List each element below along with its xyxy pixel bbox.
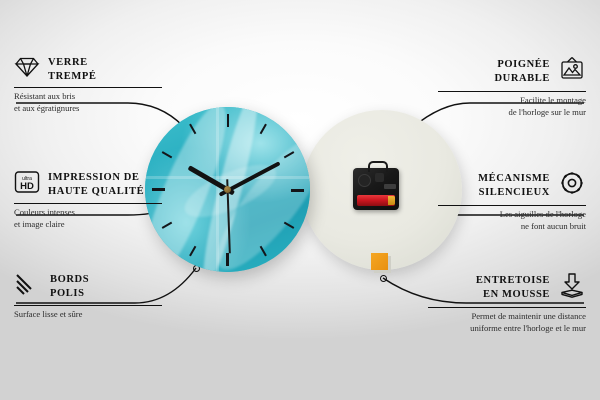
polished-edges-icon bbox=[14, 272, 42, 301]
feature-title: IMPRESSION DEHAUTE QUALITÉ bbox=[48, 171, 144, 198]
feature-poignee-durable: POIGNÉEDURABLE Facilite le montagede l'h… bbox=[438, 56, 586, 118]
svg-text:HD: HD bbox=[20, 181, 34, 192]
hour-tick bbox=[152, 189, 228, 191]
divider bbox=[428, 307, 586, 308]
mechanism-dial bbox=[358, 174, 371, 187]
ultra-hd-icon: ultra HD bbox=[14, 170, 40, 199]
feature-description: Couleurs intenseset image claire bbox=[14, 207, 162, 230]
mechanism-label bbox=[384, 184, 396, 189]
feature-description: Surface lisse et sûre bbox=[14, 309, 162, 321]
foam-spacer bbox=[371, 253, 388, 270]
feature-bords-polis: BORDSPOLIS Surface lisse et sûre bbox=[14, 272, 162, 321]
gear-icon bbox=[558, 170, 586, 201]
picture-frame-hook-icon bbox=[558, 56, 586, 87]
feature-impression-haute-qualite: ultra HD IMPRESSION DEHAUTE QUALITÉ Coul… bbox=[14, 170, 162, 230]
feature-title: POIGNÉEDURABLE bbox=[494, 58, 550, 85]
feature-description: Permet de maintenir une distanceuniforme… bbox=[428, 311, 586, 334]
feature-entretoise-en-mousse: ENTRETOISEEN MOUSSE Permet de maintenir … bbox=[428, 272, 586, 334]
divider bbox=[14, 203, 162, 204]
feature-description: Facilite le montagede l'horloge sur le m… bbox=[438, 95, 586, 118]
feature-title: ENTRETOISEEN MOUSSE bbox=[476, 274, 550, 301]
divider bbox=[14, 305, 162, 306]
divider bbox=[438, 91, 586, 92]
feature-title: MÉCANISMESILENCIEUX bbox=[478, 172, 550, 199]
center-cap bbox=[224, 186, 231, 193]
foam-spacer-arrow-icon bbox=[558, 272, 586, 303]
infographic-stage: VERRETREMPÉ Résistant aux briset aux égr… bbox=[0, 0, 600, 400]
feature-title: VERRETREMPÉ bbox=[48, 56, 97, 83]
battery bbox=[357, 195, 395, 206]
divider bbox=[438, 205, 586, 206]
divider bbox=[14, 87, 162, 88]
clock-front-view bbox=[145, 107, 310, 272]
feature-description: Résistant aux briset aux égratignures bbox=[14, 91, 162, 114]
leader-dot-entretoise bbox=[380, 275, 387, 282]
feature-title: BORDSPOLIS bbox=[50, 273, 89, 300]
hour-tick bbox=[228, 189, 304, 191]
hour-tick bbox=[227, 114, 229, 190]
quartz-mechanism bbox=[353, 168, 399, 210]
feature-mecanisme-silencieux: MÉCANISMESILENCIEUX Les aiguilles de l'h… bbox=[438, 170, 586, 232]
feature-verre-trempe: VERRETREMPÉ Résistant aux briset aux égr… bbox=[14, 56, 162, 114]
mechanism-dial-secondary bbox=[375, 173, 384, 182]
diamond-icon bbox=[14, 56, 40, 83]
feature-description: Les aiguilles de l'horlogene font aucun … bbox=[438, 209, 586, 232]
